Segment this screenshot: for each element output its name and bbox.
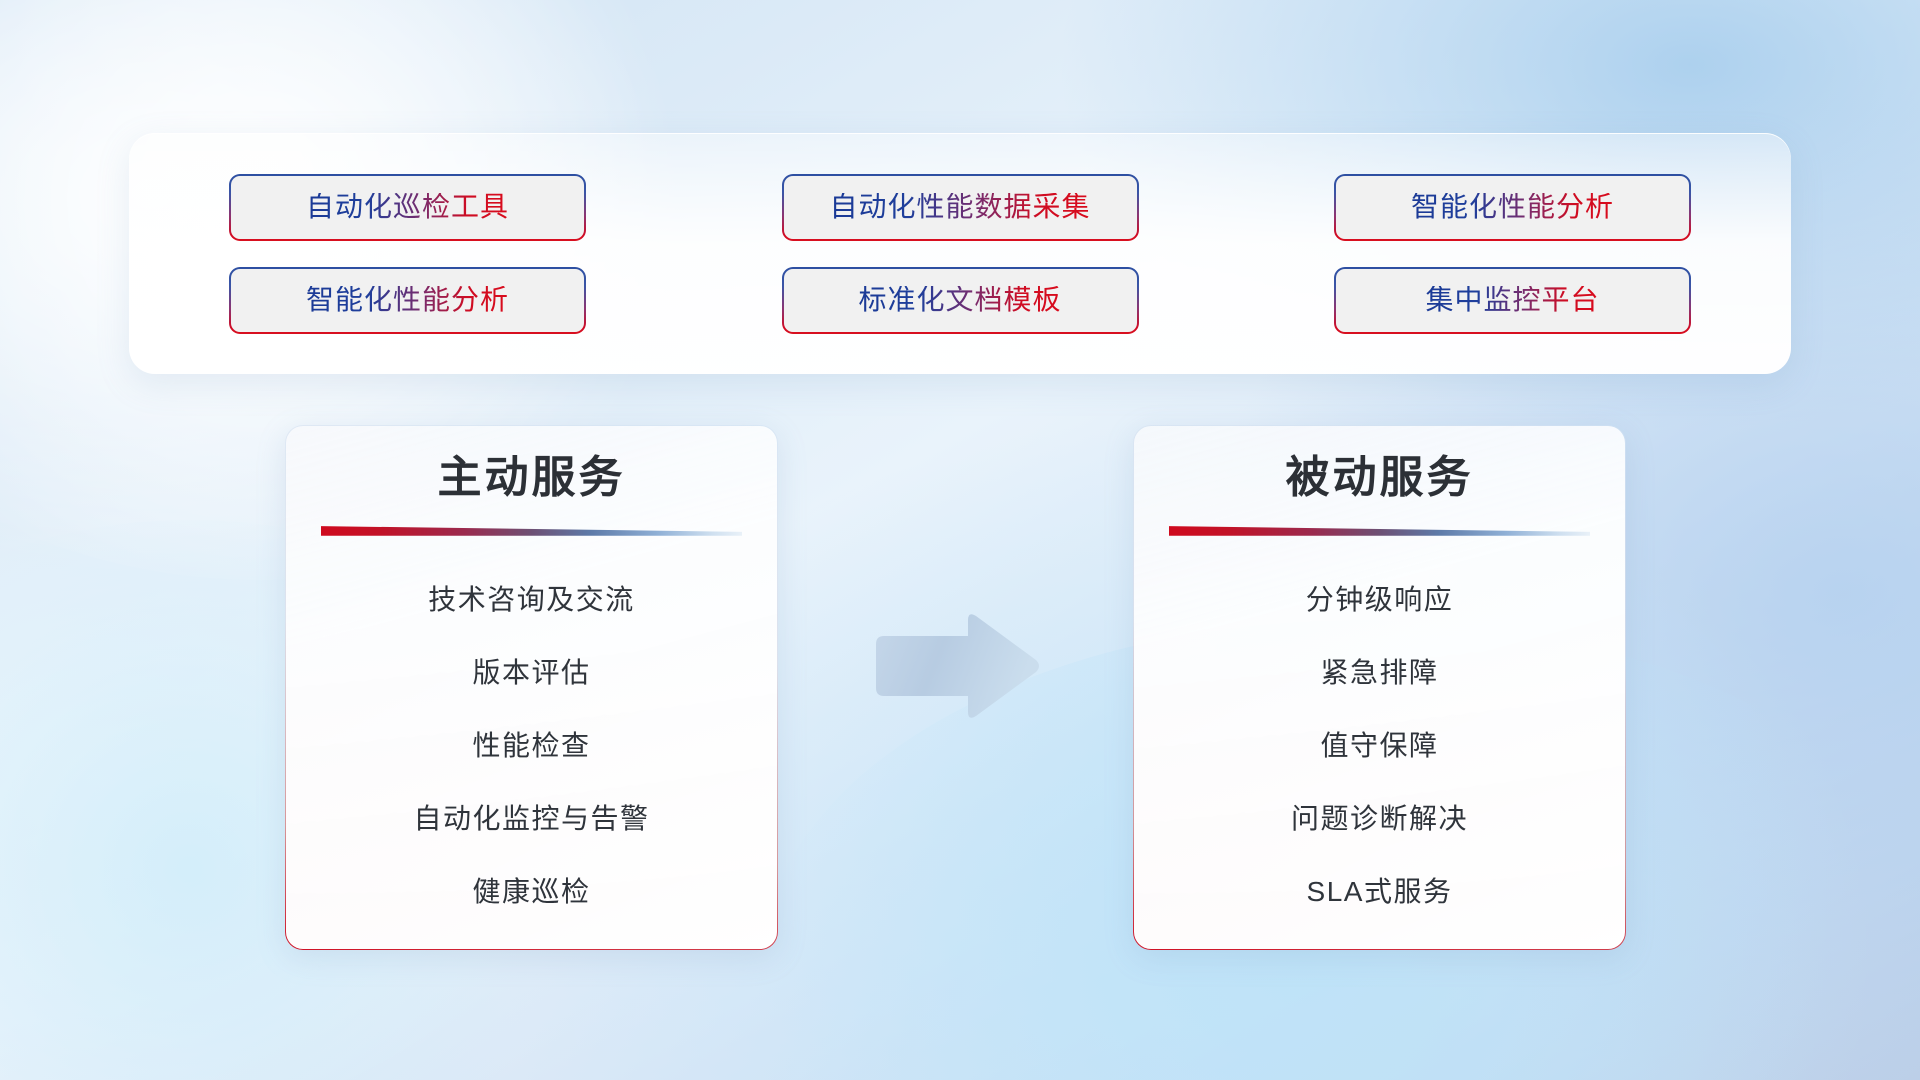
service-card-reactive[interactable]: 被动服务 分钟级响应 紧急排障 值守保障 问题诊断解决 SLA式服务 [1133, 425, 1626, 950]
list-item: 紧急排障 [1320, 637, 1438, 710]
capability-row-1: 自动化巡检工具 自动化性能数据采集 智能化性能分析 [129, 174, 1791, 241]
list-item: 问题诊断解决 [1291, 783, 1468, 856]
capability-tag-label: 智能化性能分析 [1411, 193, 1614, 221]
card-divider-bar [1169, 525, 1590, 536]
card-title: 被动服务 [1134, 452, 1625, 505]
service-card-proactive[interactable]: 主动服务 技术咨询及交流 版本评估 性能检查 自动化监控与告警 健康巡检 [285, 425, 778, 950]
capability-panel: 自动化巡检工具 自动化性能数据采集 智能化性能分析 智能化性能分析 标准化文档模… [129, 133, 1791, 374]
capability-tag-standardized-doc-template[interactable]: 标准化文档模板 [782, 267, 1139, 334]
arrow-right-icon [872, 610, 1042, 722]
slide-canvas: 自动化巡检工具 自动化性能数据采集 智能化性能分析 智能化性能分析 标准化文档模… [0, 0, 1920, 1080]
capability-tag-label: 智能化性能分析 [306, 286, 509, 314]
capability-tag-label: 标准化文档模板 [858, 286, 1061, 314]
card-divider [1169, 525, 1590, 536]
list-item: 性能检查 [472, 710, 590, 783]
capability-row-2: 智能化性能分析 标准化文档模板 集中监控平台 [129, 267, 1791, 334]
capability-tag-intelligent-performance-analysis[interactable]: 智能化性能分析 [1334, 174, 1691, 241]
card-divider-bar [321, 525, 742, 536]
capability-tag-label: 集中监控平台 [1425, 286, 1599, 314]
list-item: 版本评估 [472, 637, 590, 710]
list-item: 分钟级响应 [1306, 564, 1454, 637]
card-title: 主动服务 [286, 452, 777, 505]
capability-tag-label: 自动化性能数据采集 [829, 193, 1090, 221]
capability-tag-automated-inspection-tool[interactable]: 自动化巡检工具 [229, 174, 586, 241]
capability-tag-intelligent-performance-analysis-2[interactable]: 智能化性能分析 [229, 267, 586, 334]
card-divider [321, 525, 742, 536]
capability-tag-label: 自动化巡检工具 [306, 193, 509, 221]
list-item: 值守保障 [1320, 710, 1438, 783]
capability-tag-automated-performance-data-collection[interactable]: 自动化性能数据采集 [782, 174, 1139, 241]
list-item: 健康巡检 [472, 856, 590, 929]
list-item: SLA式服务 [1307, 856, 1453, 929]
capability-tag-centralized-monitoring-platform[interactable]: 集中监控平台 [1334, 267, 1691, 334]
card-item-list: 技术咨询及交流 版本评估 性能检查 自动化监控与告警 健康巡检 [286, 564, 777, 929]
card-item-list: 分钟级响应 紧急排障 值守保障 问题诊断解决 SLA式服务 [1134, 564, 1625, 929]
list-item: 自动化监控与告警 [413, 783, 649, 856]
list-item: 技术咨询及交流 [428, 564, 635, 637]
